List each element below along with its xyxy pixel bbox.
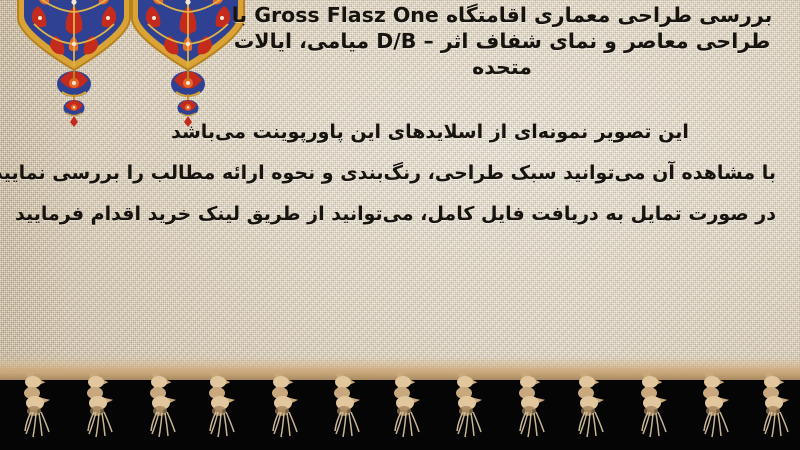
fringe-tassel	[388, 372, 442, 442]
body-line-1: این تصویر نمونه‌ای از اسلایدهای این پاور…	[24, 112, 776, 153]
fringe-tassel	[326, 372, 380, 442]
fringe-tassel	[18, 372, 72, 442]
fringe-tassel	[80, 372, 134, 442]
slide-body-text: این تصویر نمونه‌ای از اسلایدهای این پاور…	[24, 112, 776, 235]
carpet-fringe-area	[0, 372, 800, 450]
title-line-2: طراحی معاصر و نمای شفاف اثر – D/B میامی،…	[222, 28, 782, 54]
title-line-3: متحده	[222, 54, 782, 80]
fringe-tassel	[511, 372, 565, 442]
fringe-tassel	[265, 372, 319, 442]
fringe-tassel	[634, 372, 688, 442]
title-line-1: بررسی طراحی معماری اقامتگاه Gross Flasz …	[222, 2, 782, 28]
presentation-slide: بررسی طراحی معماری اقامتگاه Gross Flasz …	[0, 0, 800, 450]
fringe-tassel	[142, 372, 196, 442]
fringe-tassel	[572, 372, 626, 442]
body-line-3: در صورت تمایل به دریافت فایل کامل، می‌تو…	[24, 194, 776, 235]
body-line-2: با مشاهده آن می‌توانید سبک طراحی، رنگ‌بن…	[24, 153, 776, 194]
fringe-tassel	[757, 372, 800, 442]
fringe-tassel	[449, 372, 503, 442]
fringe-tassel	[203, 372, 257, 442]
slide-title: بررسی طراحی معماری اقامتگاه Gross Flasz …	[222, 2, 782, 80]
fringe-tassel	[695, 372, 749, 442]
